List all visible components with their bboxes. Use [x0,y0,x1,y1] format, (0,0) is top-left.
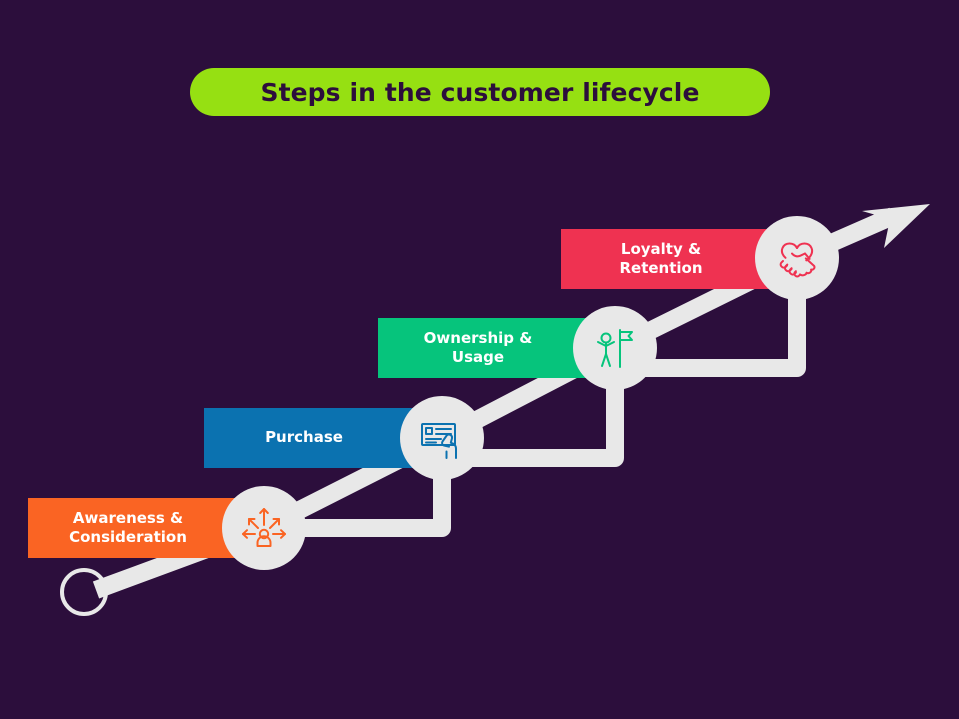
step-label-loyalty: Loyalty & Retention [619,240,702,278]
step-icon-circle-ownership[interactable] [573,306,657,390]
infographic-slide: Steps in the customer lifecycle Awarenes… [0,0,959,719]
open-circle-start-marker [60,568,108,616]
step-icon-circle-loyalty[interactable] [755,216,839,300]
heart-handshake-icon [770,231,824,285]
step-label-awareness: Awareness & Consideration [69,509,187,547]
step-icon-circle-purchase[interactable] [400,396,484,480]
step-icon-circle-awareness[interactable] [222,486,306,570]
person-with-arrows-icon [239,503,289,553]
person-with-flag-icon [590,323,640,373]
step-label-purchase: Purchase [265,428,343,447]
step-label-ownership: Ownership & Usage [424,329,533,367]
hand-holding-card-icon [417,413,467,463]
